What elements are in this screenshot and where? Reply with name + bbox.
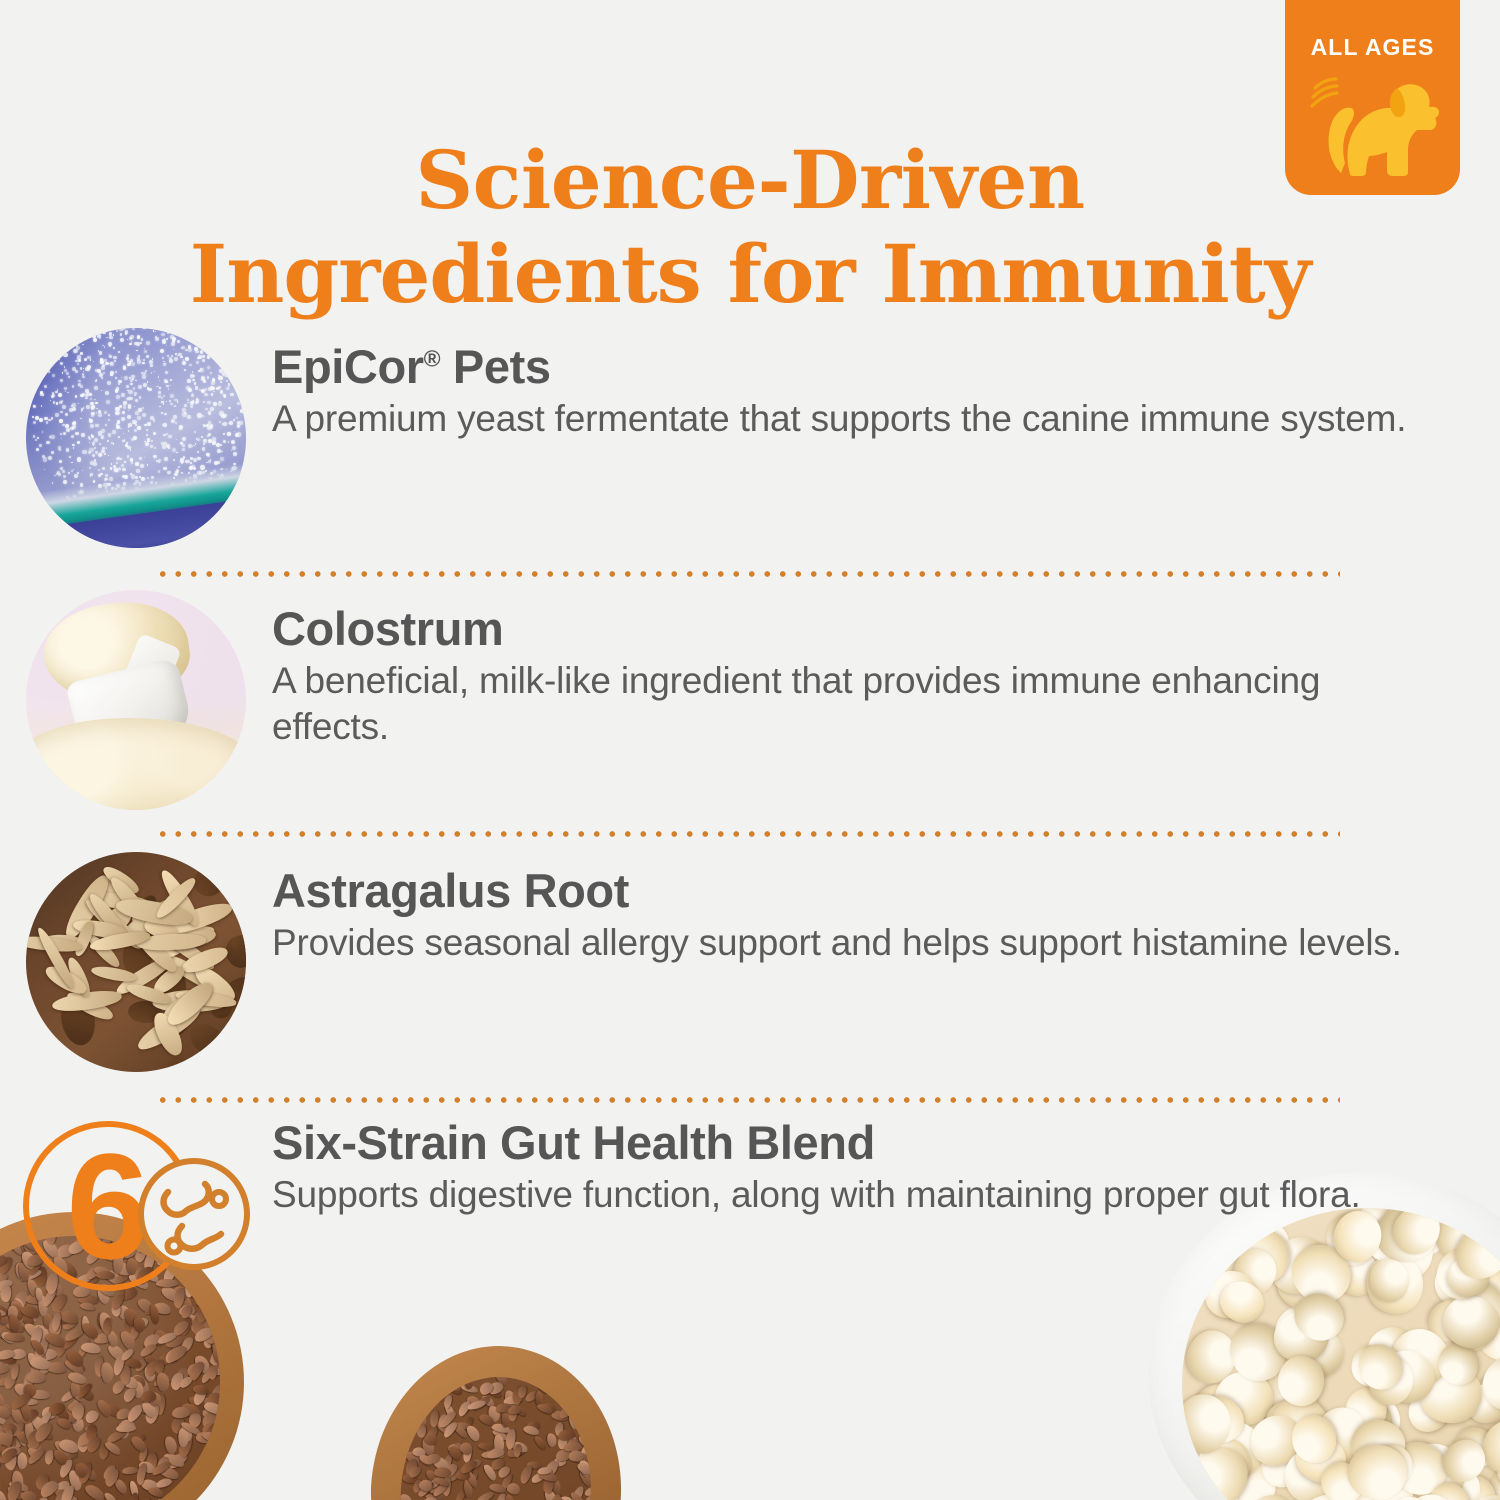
flax-seed-wooden-spoon-photo xyxy=(363,1338,631,1500)
infographic-canvas: ALL AGES Science-Driven Ingredients for … xyxy=(0,0,1500,1500)
sitting-dog-icon xyxy=(1305,66,1440,186)
six-number-label: 6 xyxy=(66,1122,149,1290)
page-title-line-1: Science-Driven xyxy=(0,140,1500,220)
registered-trademark-symbol: ® xyxy=(424,345,441,371)
colostrum-powder-scoop-photo xyxy=(26,590,246,810)
page-title-line-2: Ingredients for Immunity xyxy=(0,234,1500,314)
ingredient-title: Colostrum xyxy=(272,604,1440,654)
ingredient-title: Six-Strain Gut Health Blend xyxy=(272,1118,1440,1168)
ingredient-row-epicor-pets: EpiCor® Pets A premium yeast fermentate … xyxy=(0,318,1500,580)
ingredient-title-tail: Pets xyxy=(440,340,550,393)
astragalus-root-slices-photo xyxy=(26,852,246,1072)
petri-dish-photo xyxy=(26,328,246,548)
ingredient-media: 6 xyxy=(0,1104,272,1300)
ingredient-description: A beneficial, milk-like ingredient that … xyxy=(272,658,1440,751)
ingredient-row-colostrum: Colostrum A beneficial, milk-like ingred… xyxy=(0,580,1500,842)
all-ages-badge-label: ALL AGES xyxy=(1285,34,1460,61)
ingredient-description: Provides seasonal allergy support and he… xyxy=(272,920,1440,967)
six-probiotic-strains-icon: 6 xyxy=(16,1110,256,1300)
ingredient-media xyxy=(0,842,272,1072)
page-title: Science-Driven Ingredients for Immunity xyxy=(0,140,1500,314)
ingredient-text: Six-Strain Gut Health Blend Supports dig… xyxy=(272,1104,1500,1218)
ingredient-description: Supports digestive function, along with … xyxy=(272,1172,1440,1219)
ingredient-row-astragalus-root: Astragalus Root Provides seasonal allerg… xyxy=(0,842,1500,1104)
ingredient-row-six-strain-gut-health-blend: 6 Six-Strain Gut Health Blend Supports d… xyxy=(0,1104,1500,1334)
ingredient-text: Colostrum A beneficial, milk-like ingred… xyxy=(272,580,1500,751)
ingredient-media xyxy=(0,580,272,810)
dotted-divider xyxy=(155,828,1340,840)
all-ages-badge: ALL AGES xyxy=(1285,0,1460,195)
ingredient-title: Astragalus Root xyxy=(272,866,1440,916)
ingredient-description: A premium yeast fermentate that supports… xyxy=(272,396,1440,443)
ingredient-title: EpiCor® Pets xyxy=(272,342,1440,392)
ingredient-list: EpiCor® Pets A premium yeast fermentate … xyxy=(0,318,1500,1334)
ingredient-text: Astragalus Root Provides seasonal allerg… xyxy=(272,842,1500,966)
ingredient-text: EpiCor® Pets A premium yeast fermentate … xyxy=(272,318,1500,442)
dotted-divider xyxy=(155,568,1340,580)
ingredient-title-main: EpiCor xyxy=(272,340,424,393)
ingredient-media xyxy=(0,318,272,548)
